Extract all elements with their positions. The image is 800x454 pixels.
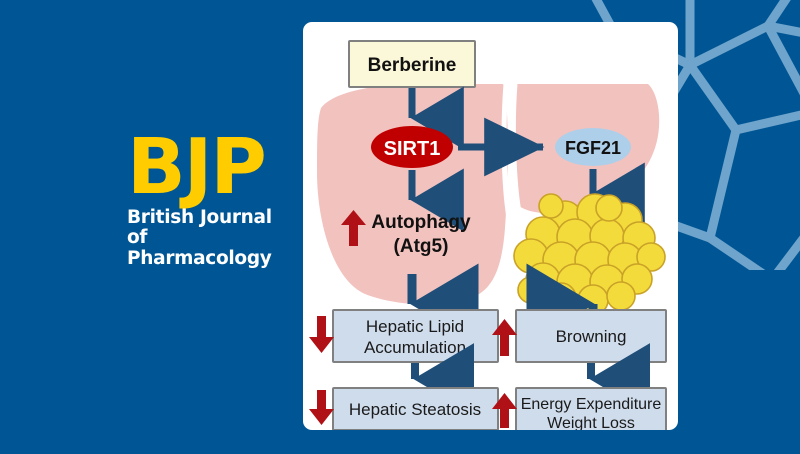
outcome-label-1a: Hepatic Lipid: [366, 317, 464, 336]
node-fgf21[interactable]: FGF21: [555, 128, 631, 166]
journal-subtitle: British Journal of Pharmacology: [127, 208, 297, 270]
outcome-box-hepatic-steatosis[interactable]: Hepatic Steatosis: [333, 388, 498, 430]
outcome-label-1b: Accumulation: [364, 338, 466, 357]
figure-card: Berberine SIRT1 FGF21: [303, 22, 678, 430]
journal-wordmark: BJP: [127, 134, 297, 202]
journal-logo: BJP British Journal of Pharmacology: [127, 134, 297, 270]
outcome-label-4b: Weight Loss: [547, 415, 635, 430]
outcome-box-energy-expenditure-weight-loss[interactable]: Energy Expenditure Weight Loss: [516, 388, 666, 430]
node-sirt1-label: SIRT1: [384, 138, 441, 160]
down-arrow-icon-hepatic-lipid: [309, 316, 334, 353]
outcome-label-3a: Hepatic Steatosis: [349, 400, 481, 419]
node-autophagy-label-2: (Atg5): [394, 236, 449, 257]
outcome-box-hepatic-lipid-accumulation[interactable]: Hepatic Lipid Accumulation: [333, 310, 498, 362]
node-fgf21-label: FGF21: [565, 138, 621, 158]
down-arrow-icon-hepatic-steatosis: [309, 390, 334, 425]
journal-graphical-abstract-banner: BJP British Journal of Pharmacology: [0, 0, 800, 454]
node-autophagy-label-1: Autophagy: [371, 212, 471, 233]
outcome-box-browning[interactable]: Browning: [516, 310, 666, 362]
node-berberine[interactable]: Berberine: [349, 41, 475, 87]
journal-subtitle-line-1: British Journal: [127, 208, 297, 229]
pathway-diagram: Berberine SIRT1 FGF21: [303, 22, 678, 430]
node-berberine-label: Berberine: [368, 55, 457, 76]
journal-subtitle-line-2: of Pharmacology: [127, 228, 297, 269]
outcome-label-2a: Browning: [556, 327, 627, 346]
outcome-label-4a: Energy Expenditure: [521, 396, 662, 413]
node-sirt1[interactable]: SIRT1: [371, 126, 453, 168]
